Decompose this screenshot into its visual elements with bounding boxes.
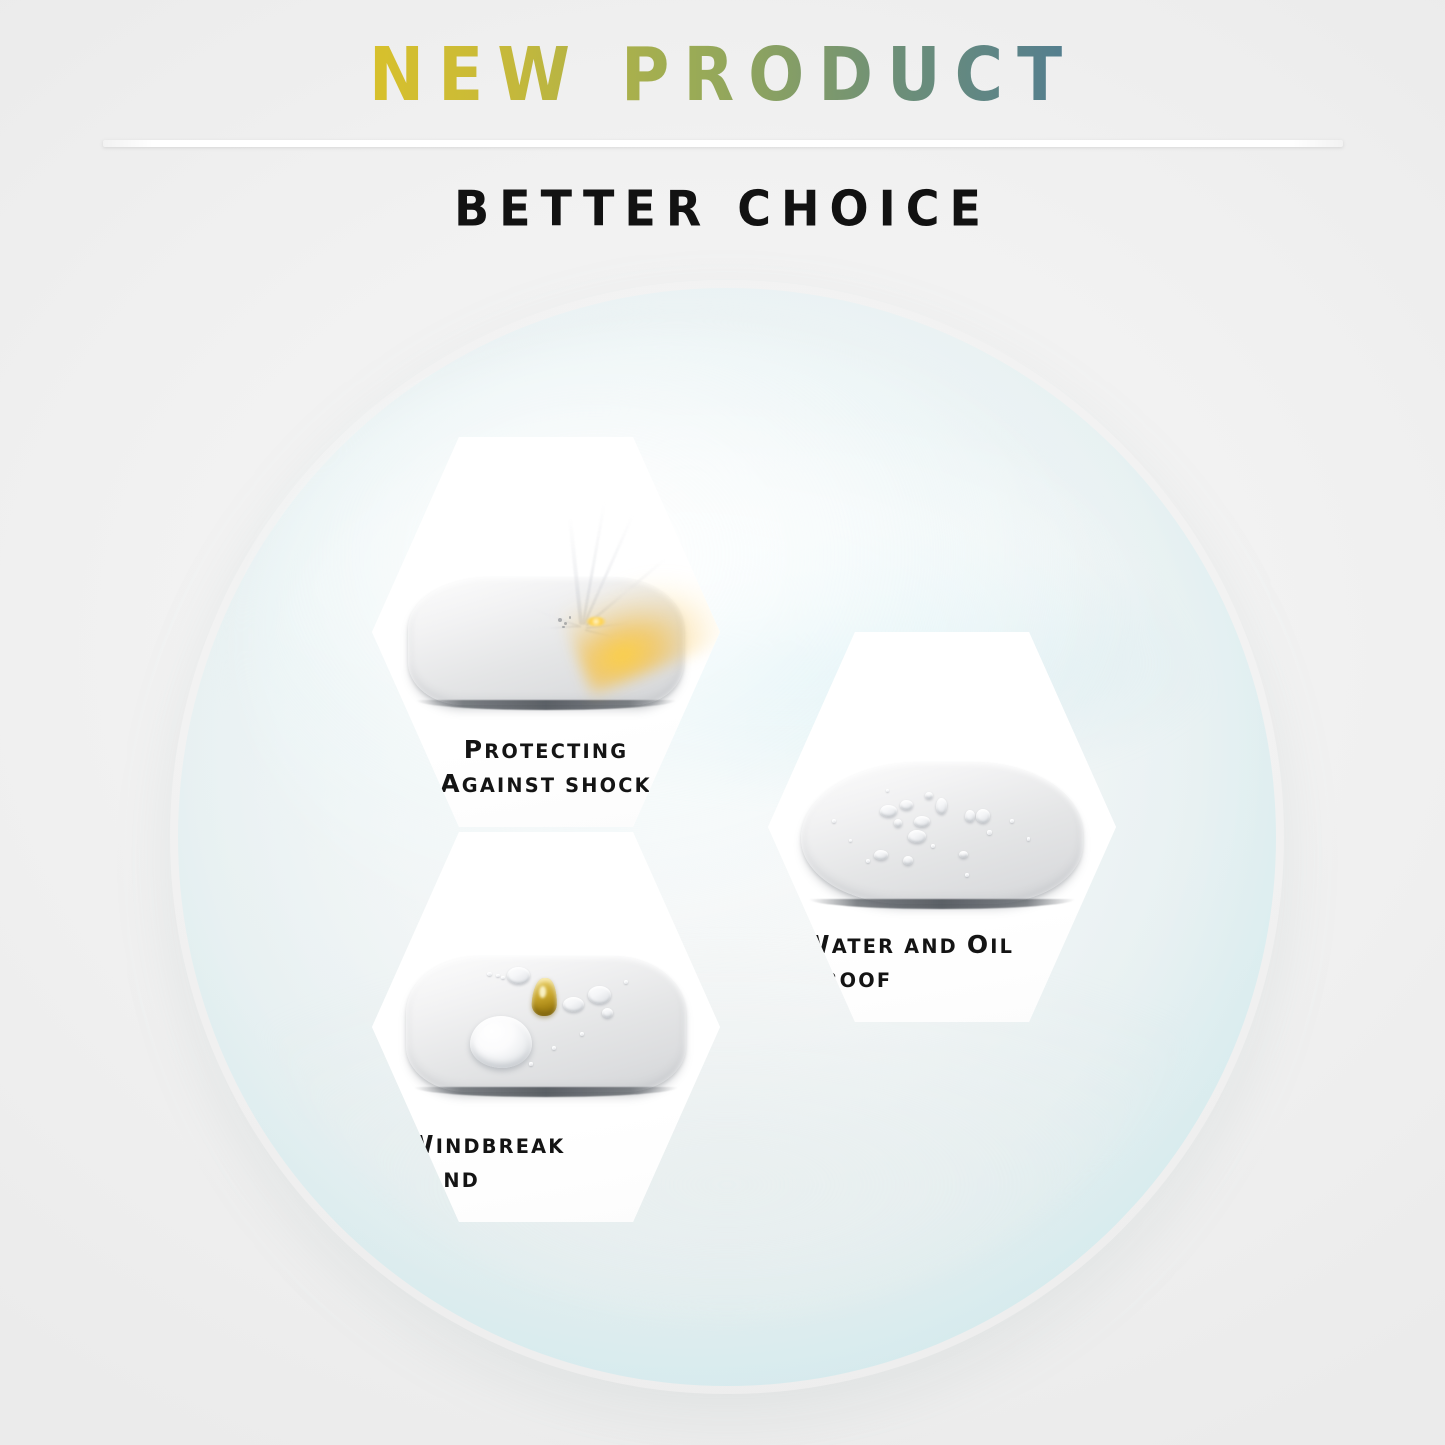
lens-edge <box>416 700 675 710</box>
water-droplet <box>959 851 968 858</box>
water-droplet <box>507 967 530 984</box>
water-droplet <box>1010 819 1014 823</box>
lens-edge <box>414 1087 677 1097</box>
water-droplet <box>874 850 888 860</box>
water-droplet <box>563 997 584 1012</box>
oil-droplet <box>531 977 557 1016</box>
lens-image-shock <box>372 533 720 729</box>
product-poster: NEW PRODUCT BETTER CHOICE <box>0 0 1445 1445</box>
lens-image-windbreak <box>372 918 720 1124</box>
page-subtitle: BETTER CHOICE <box>0 180 1445 237</box>
water-droplet <box>624 980 628 984</box>
water-droplet <box>965 873 969 877</box>
water-droplet <box>976 809 990 823</box>
water-droplet <box>849 839 853 843</box>
page-title: NEW PRODUCT <box>0 36 1445 114</box>
water-droplet <box>965 810 975 822</box>
water-droplet <box>588 986 611 1004</box>
lens-shape <box>801 762 1083 904</box>
lens-edge <box>809 899 1074 909</box>
water-droplet <box>487 972 492 976</box>
lens-shape <box>406 956 686 1092</box>
large-water-bead <box>470 1016 532 1068</box>
water-droplet <box>931 844 935 848</box>
water-droplet <box>908 830 926 843</box>
water-droplet <box>987 830 992 835</box>
lens-shape <box>408 577 684 705</box>
water-droplet <box>880 805 897 817</box>
lens-image-water-oil <box>768 706 1116 916</box>
water-droplet <box>903 856 913 865</box>
caption-line-1: PROTECTING <box>398 733 694 767</box>
water-droplet <box>1027 837 1031 841</box>
caption-line-1: WATER AND OIL <box>802 928 1090 962</box>
water-droplet <box>866 859 870 863</box>
water-droplet <box>886 789 890 793</box>
water-droplet <box>580 1032 584 1036</box>
title-divider <box>103 140 1343 147</box>
water-droplet <box>832 819 836 823</box>
water-droplet <box>925 792 933 799</box>
water-droplet <box>936 798 947 814</box>
water-droplet <box>529 1062 533 1066</box>
oil-highlight <box>538 986 545 998</box>
caption-line-1: WINDBREAK <box>406 1128 694 1162</box>
water-droplet <box>894 819 902 827</box>
water-droplet <box>914 816 930 827</box>
water-droplet <box>501 976 505 979</box>
water-droplet <box>496 974 500 978</box>
water-droplet <box>602 1008 613 1018</box>
water-droplet <box>900 800 913 810</box>
water-droplet <box>552 1046 556 1050</box>
